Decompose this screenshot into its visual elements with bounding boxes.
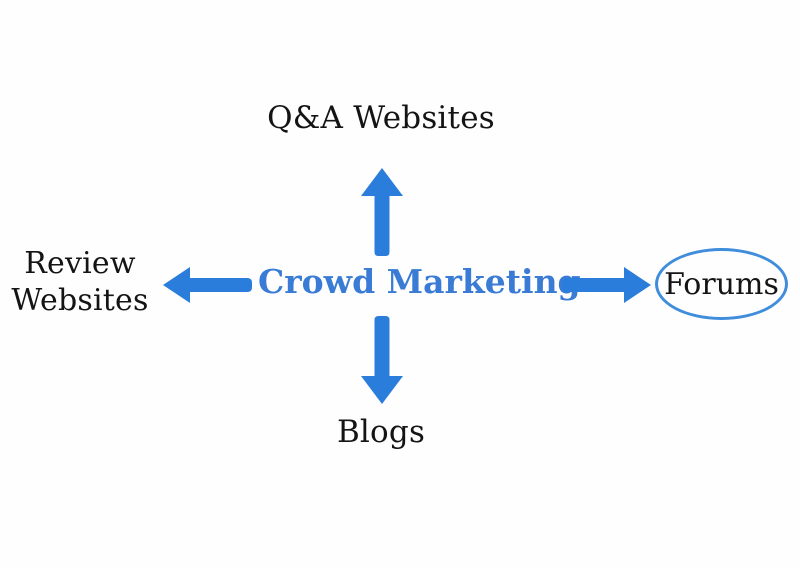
arrow-right-icon [560,262,654,308]
node-label-qa-websites: Q&A Websites [0,100,762,137]
node-forums: Forums [655,248,788,320]
diagram-canvas: Q&A Websites Review Websites Crowd Marke… [0,0,800,568]
center-label-crowd-marketing: Crowd Marketing [258,262,558,301]
arrow-left-icon [160,262,254,308]
node-label-forums: Forums [655,248,788,320]
arrow-down-icon [356,314,408,406]
node-label-review-websites: Review Websites [0,246,160,319]
node-label-review-line1: Review [0,246,160,283]
arrow-up-icon [356,166,408,258]
node-label-blogs: Blogs [0,414,762,451]
node-label-review-line2: Websites [0,283,160,320]
